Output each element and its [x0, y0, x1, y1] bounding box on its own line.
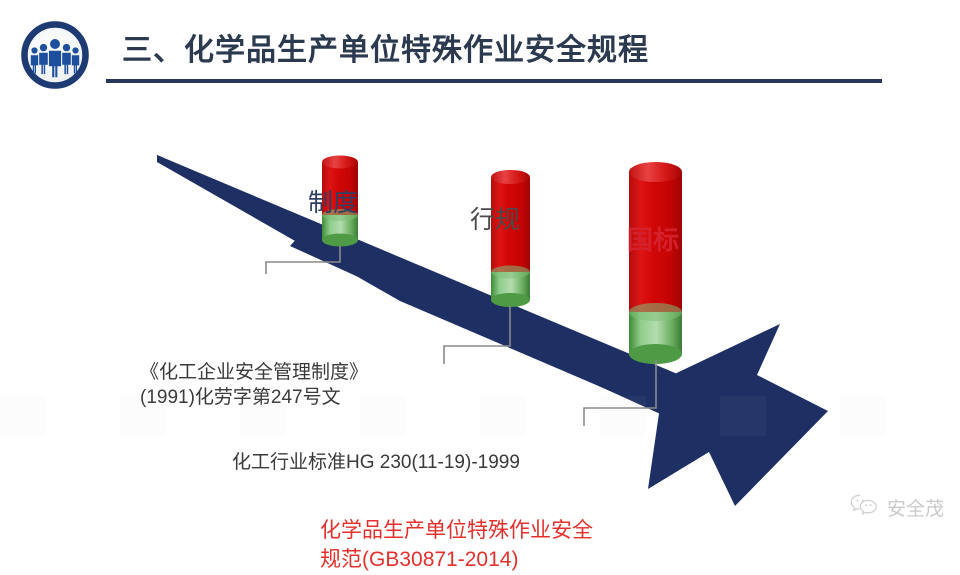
watermark-text: 安全茂 [887, 494, 944, 521]
annotation-national-standard: 化学品生产单位特殊作业安全 规范(GB30871-2014) [320, 516, 593, 575]
annotation-national-standard-line1: 化学品生产单位特殊作业安全 [320, 516, 593, 545]
diagram-area: 制度 行规 国标 《化工企业安全管理制度》 (1991)化劳字第247号文 化工… [0, 96, 960, 540]
pillar-label-guobiao: 国标 [627, 227, 679, 253]
slide-canvas: 三、化学品生产单位特殊作业安全规程 [0, 0, 960, 540]
pillar-label-zhidu: 制度 [308, 191, 358, 216]
page-title: 三、化学品生产单位特殊作业安全规程 [122, 36, 649, 66]
people-group-circle-icon [19, 19, 91, 91]
annotation-industry-standard: 化工行业标准HG 230(11-19)-1999 [232, 451, 520, 476]
watermark: 安全茂 [849, 493, 944, 522]
annotation-institution-line1: 《化工企业安全管理制度》 [140, 361, 368, 386]
pillar-hanggui [491, 170, 530, 307]
annotation-industry-standard-line1: 化工行业标准HG 230(11-19)-1999 [232, 451, 520, 476]
annotation-institution: 《化工企业安全管理制度》 (1991)化劳字第247号文 [140, 361, 368, 410]
pillar-label-hanggui: 行规 [470, 208, 520, 233]
slide-header: 三、化学品生产单位特殊作业安全规程 [0, 0, 960, 100]
pillar-guobiao [629, 162, 682, 364]
annotation-national-standard-line2: 规范(GB30871-2014) [320, 545, 593, 574]
annotation-institution-line2: (1991)化劳字第247号文 [140, 386, 368, 411]
wechat-icon [849, 493, 879, 522]
title-underline [106, 79, 882, 83]
